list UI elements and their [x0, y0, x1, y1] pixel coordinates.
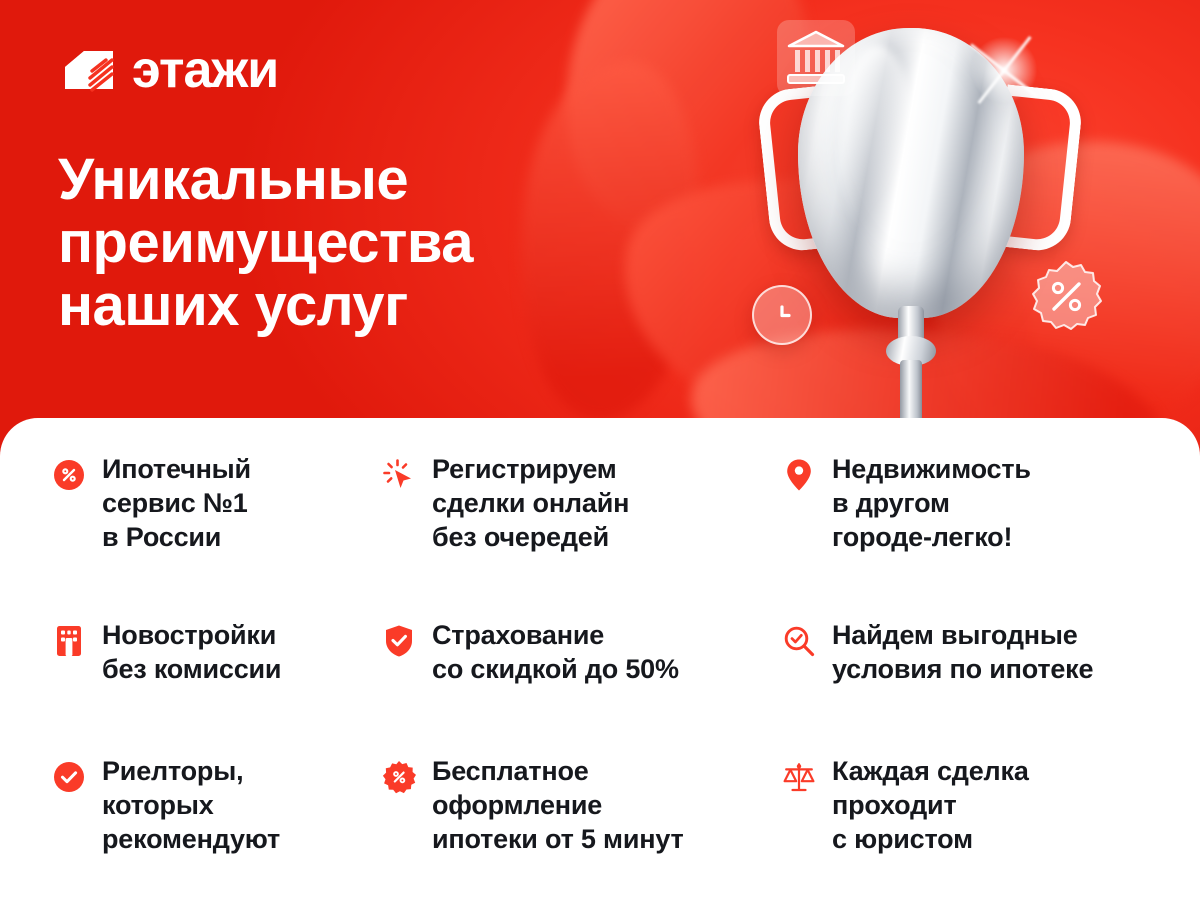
promo-banner: этажи Уникальные преимущества наших услу…: [0, 0, 1200, 900]
feature-label: Ипотечный сервис №1 в России: [102, 452, 251, 554]
scales-justice-icon: [782, 760, 816, 794]
feature-line: Регистрируем: [432, 452, 629, 486]
headline-line-3: наших услуг: [58, 274, 658, 337]
percent-badge-icon: [1028, 258, 1104, 334]
feature-line: Найдем выгодные: [832, 618, 1093, 652]
feature-line: Каждая сделка: [832, 754, 1029, 788]
page-title: Уникальные преимущества наших услуг: [58, 148, 658, 338]
feature-line: рекомендуют: [102, 822, 280, 856]
feature-line: Риелторы,: [102, 754, 280, 788]
feature-line: Страхование: [432, 618, 679, 652]
feature-item: Страхование со скидкой до 50%: [382, 618, 782, 754]
feature-item: Найдем выгодные условия по ипотеке: [782, 618, 1200, 754]
feature-label: Риелторы, которых рекомендуют: [102, 754, 280, 856]
feature-line: условия по ипотеке: [832, 652, 1093, 686]
feature-line: со скидкой до 50%: [432, 652, 679, 686]
percent-starburst-icon: [382, 760, 416, 794]
feature-line: в России: [102, 520, 251, 554]
feature-line: городе-легко!: [832, 520, 1031, 554]
cursor-click-icon: [382, 458, 416, 492]
building-logo-icon: [62, 45, 116, 95]
feature-item: Бесплатное оформление ипотеки от 5 минут: [382, 754, 782, 900]
feature-line: Ипотечный: [102, 452, 251, 486]
feature-item: Регистрируем сделки онлайн без очередей: [382, 452, 782, 618]
bank-columns-icon: [777, 20, 855, 96]
feature-label: Регистрируем сделки онлайн без очередей: [432, 452, 629, 554]
search-check-icon: [782, 624, 816, 658]
feature-item: Новостройки без комиссии: [52, 618, 382, 754]
feature-line: в другом: [832, 486, 1031, 520]
feature-line: Недвижимость: [832, 452, 1031, 486]
feature-item: Каждая сделка проходит с юристом: [782, 754, 1200, 900]
brand-name: этажи: [132, 44, 278, 96]
feature-line: Новостройки: [102, 618, 281, 652]
feature-label: Новостройки без комиссии: [102, 618, 281, 686]
feature-label: Недвижимость в другом городе-легко!: [832, 452, 1031, 554]
feature-line: без очередей: [432, 520, 629, 554]
brand-logo[interactable]: этажи: [62, 44, 278, 96]
shield-check-icon: [382, 624, 416, 658]
feature-line: сделки онлайн: [432, 486, 629, 520]
feature-line: ипотеки от 5 минут: [432, 822, 684, 856]
feature-label: Страхование со скидкой до 50%: [432, 618, 679, 686]
check-circle-icon: [52, 760, 86, 794]
hero-section: этажи Уникальные преимущества наших услу…: [0, 0, 1200, 470]
feature-line: с юристом: [832, 822, 1029, 856]
features-grid: Ипотечный сервис №1 в России: [0, 452, 1200, 900]
percent-circle-icon: [52, 458, 86, 492]
feature-line: Бесплатное: [432, 754, 684, 788]
feature-label: Каждая сделка проходит с юристом: [832, 754, 1029, 856]
clock-icon: [752, 285, 812, 345]
feature-label: Бесплатное оформление ипотеки от 5 минут: [432, 754, 684, 856]
feature-item: Недвижимость в другом городе-легко!: [782, 452, 1200, 618]
feature-line: сервис №1: [102, 486, 251, 520]
feature-item: Риелторы, которых рекомендуют: [52, 754, 382, 900]
feature-item: Ипотечный сервис №1 в России: [52, 452, 382, 618]
apartment-building-icon: [52, 624, 86, 658]
feature-line: без комиссии: [102, 652, 281, 686]
feature-line: которых: [102, 788, 280, 822]
feature-label: Найдем выгодные условия по ипотеке: [832, 618, 1093, 686]
feature-line: оформление: [432, 788, 684, 822]
feature-line: проходит: [832, 788, 1029, 822]
headline-line-2: преимущества: [58, 211, 658, 274]
map-pin-icon: [782, 458, 816, 492]
headline-line-1: Уникальные: [58, 148, 658, 211]
sparkle-glint: [966, 32, 1042, 108]
